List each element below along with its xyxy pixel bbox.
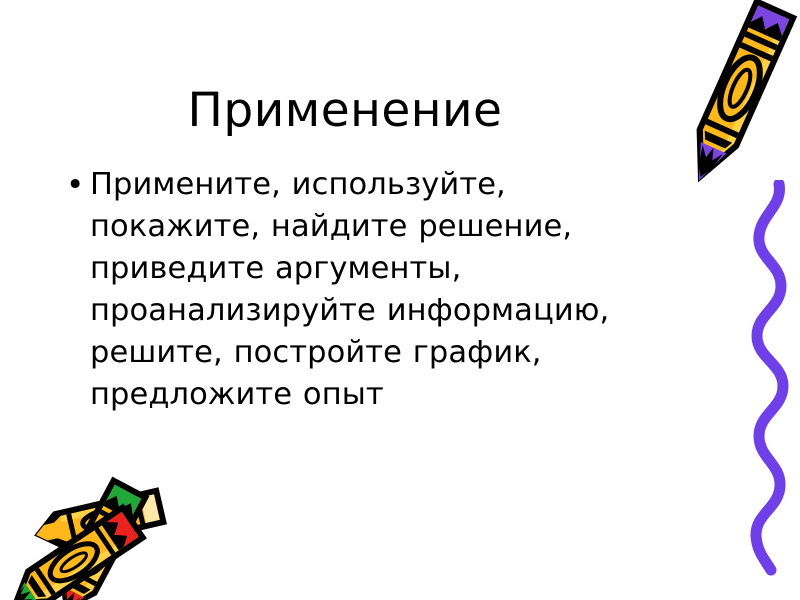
list-item: • Примените, используйте, покажите, найд… bbox=[60, 164, 670, 416]
yellow-crayon-icon bbox=[30, 487, 167, 554]
green-crayon-icon bbox=[46, 477, 150, 600]
bullet-line: предложите опыт bbox=[90, 377, 384, 412]
page-title: Применение bbox=[0, 86, 690, 135]
purple-squiggle-icon bbox=[735, 180, 800, 580]
crayons-cluster-icon bbox=[0, 462, 224, 600]
bullet-line: проанализируйте информацию, bbox=[90, 293, 609, 328]
bullet-line: покажите, найдите решение, bbox=[90, 209, 572, 244]
slide-canvas: Применение • Примените, используйте, пок… bbox=[0, 0, 800, 600]
bullet-icon: • bbox=[60, 164, 90, 206]
bullet-line: приведите аргументы, bbox=[90, 251, 461, 286]
bullet-item-text: Примените, используйте, покажите, найдит… bbox=[90, 164, 670, 416]
bullet-line: решите, постройте график, bbox=[90, 335, 542, 370]
body-content: • Примените, используйте, покажите, найд… bbox=[60, 164, 670, 416]
bullet-line: Примените, используйте, bbox=[90, 167, 506, 202]
red-crayon-icon bbox=[1, 503, 147, 600]
